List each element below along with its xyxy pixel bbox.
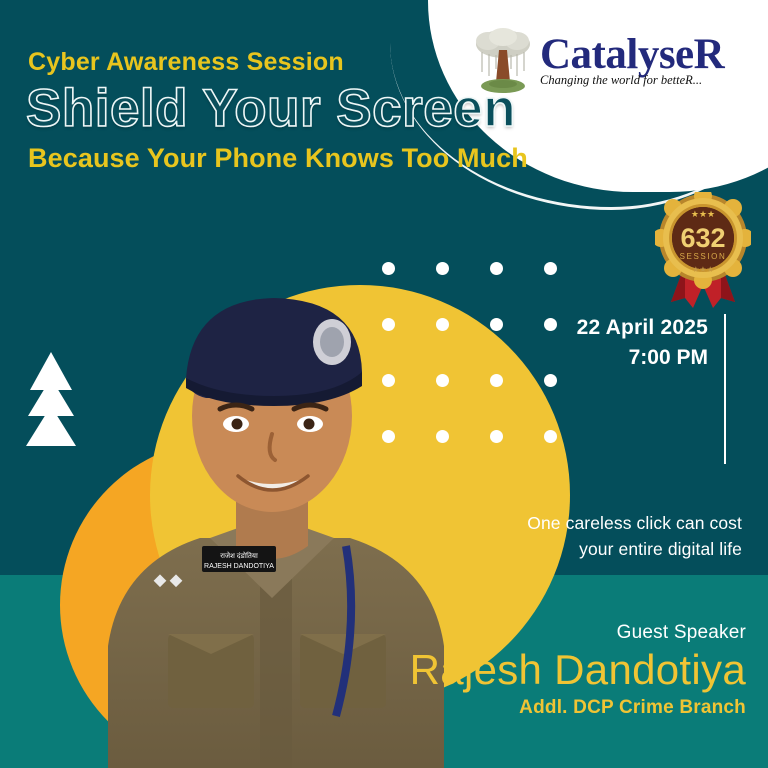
headline-kicker: Cyber Awareness Session: [28, 48, 546, 77]
session-badge-label: SESSION: [680, 252, 727, 261]
banyan-tree-icon: [472, 24, 534, 96]
brand-logo-text: CatalyseR Changing the world for betteR.…: [540, 32, 724, 88]
speaker-label: Guest Speaker: [410, 622, 746, 644]
event-time: 7:00 PM: [577, 346, 708, 370]
svg-text:★★★: ★★★: [692, 265, 714, 274]
speaker-role: Addl. DCP Crime Branch: [410, 697, 746, 719]
svg-text:राजेश दंडोतिया: राजेश दंडोतिया: [220, 551, 258, 560]
quote-line-2: your entire digital life: [527, 536, 742, 562]
page-title: Shield Your Screen: [26, 81, 546, 137]
speaker-block: Guest Speaker Rajesh Dandotiya Addl. DCP…: [410, 622, 746, 719]
brand-logo[interactable]: CatalyseR Changing the world for betteR.…: [472, 18, 762, 102]
headline-block: Cyber Awareness Session Shield Your Scre…: [26, 48, 546, 174]
brand-tagline: Changing the world for betteR...: [540, 73, 724, 88]
schedule-block: 22 April 2025 7:00 PM: [577, 316, 726, 370]
poster-canvas: CatalyseR Changing the world for betteR.…: [0, 0, 768, 768]
speaker-name: Rajesh Dandotiya: [410, 646, 746, 693]
svg-text:RAJESH DANDOTIYA: RAJESH DANDOTIYA: [204, 563, 274, 570]
brand-name: CatalyseR: [540, 34, 724, 75]
headline-subtitle: Because Your Phone Knows Too Much: [28, 143, 546, 174]
quote-line-1: One careless click can cost: [527, 510, 742, 536]
session-badge: ★★★ 632 SESSION ★★★: [655, 192, 751, 310]
event-date: 22 April 2025: [577, 316, 708, 340]
schedule-divider: [724, 314, 726, 464]
session-badge-number: 632: [680, 223, 725, 253]
svg-text:★★★: ★★★: [691, 209, 715, 219]
tagline-quote: One careless click can cost your entire …: [527, 510, 742, 563]
